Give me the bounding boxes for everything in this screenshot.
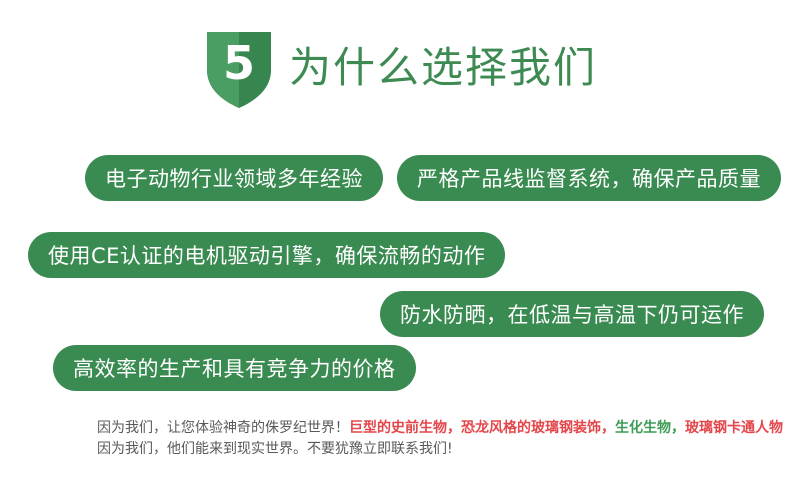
footer-line-2: 因为我们，他们能来到现实世界。不要犹豫立即联系我们! bbox=[97, 439, 777, 460]
footer-line1-highlight-red-1: 巨型的史前生物，恐龙风格的玻璃钢装饰， bbox=[349, 420, 615, 436]
feature-pill: 电子动物行业领域多年经验 bbox=[85, 155, 383, 201]
promo-banner: 5 为什么选择我们 电子动物行业领域多年经验 严格产品线监督系统，确保产品质量 … bbox=[0, 0, 800, 485]
footer-line1-highlight-red-2: 玻璃钢卡通人物 bbox=[685, 420, 783, 436]
footer-line1-highlight-green: 生化生物， bbox=[615, 420, 685, 436]
footer-line-1: 因为我们，让您体验神奇的侏罗纪世界！巨型的史前生物，恐龙风格的玻璃钢装饰，生化生… bbox=[97, 418, 777, 439]
feature-pill-list: 电子动物行业领域多年经验 严格产品线监督系统，确保产品质量 使用CE认证的电机驱… bbox=[0, 0, 800, 485]
footer-line1-part1: 因为我们，让您体验神奇的侏罗纪世界！ bbox=[97, 420, 349, 436]
feature-pill: 严格产品线监督系统，确保产品质量 bbox=[397, 155, 781, 201]
footer-line2-part1: 因为我们，他们能来到现实世界。不要犹豫立即联系我们! bbox=[97, 441, 453, 457]
feature-pill: 使用CE认证的电机驱动引擎，确保流畅的动作 bbox=[28, 232, 505, 278]
feature-pill: 防水防晒，在低温与高温下仍可运作 bbox=[380, 291, 764, 337]
footer-text: 因为我们，让您体验神奇的侏罗纪世界！巨型的史前生物，恐龙风格的玻璃钢装饰，生化生… bbox=[97, 418, 777, 460]
feature-pill: 高效率的生产和具有竞争力的价格 bbox=[53, 345, 416, 391]
